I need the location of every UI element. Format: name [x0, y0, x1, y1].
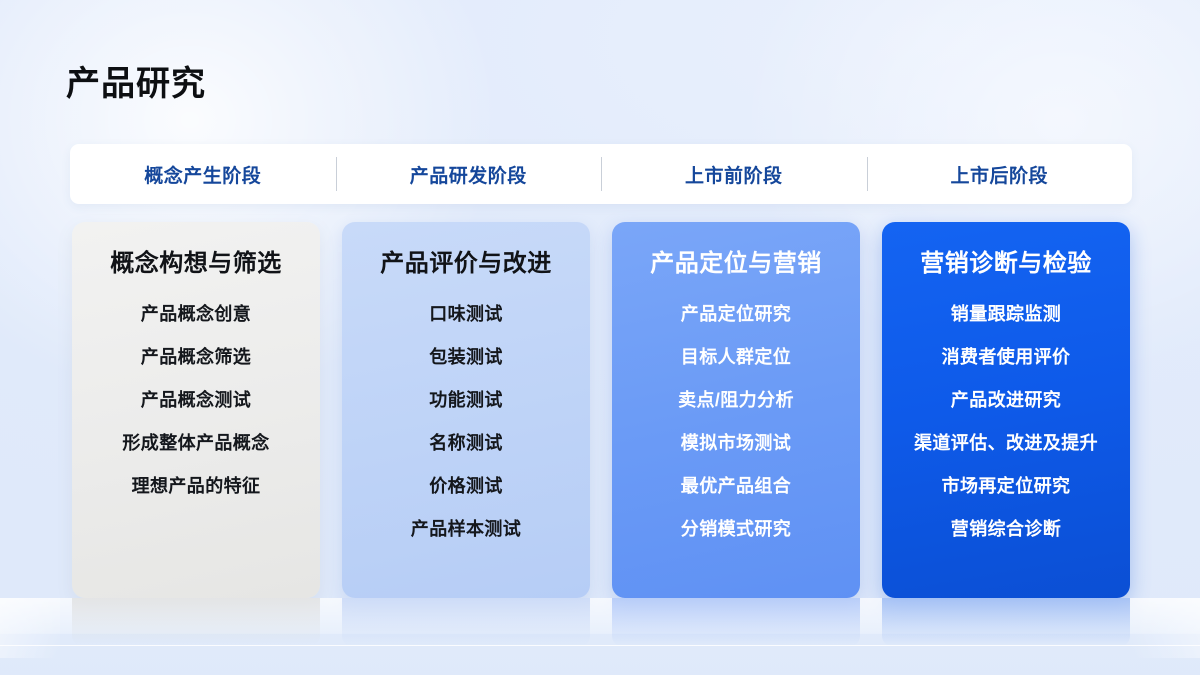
list-item: 分销模式研究 — [620, 520, 852, 538]
list-item: 模拟市场测试 — [620, 434, 852, 452]
card-title: 概念构想与筛选 — [72, 250, 320, 279]
card-title: 产品评价与改进 — [342, 250, 590, 279]
list-item: 最优产品组合 — [620, 477, 852, 495]
list-item: 卖点/阻力分析 — [620, 391, 852, 409]
floor-plane — [0, 598, 1200, 675]
list-item: 理想产品的特征 — [80, 477, 312, 495]
page-title: 产品研究 — [66, 63, 206, 106]
card-item-list: 产品概念创意 产品概念筛选 产品概念测试 形成整体产品概念 理想产品的特征 — [72, 297, 320, 495]
list-item: 产品样本测试 — [350, 520, 582, 538]
card-item-list: 口味测试 包装测试 功能测试 名称测试 价格测试 产品样本测试 — [342, 297, 590, 538]
list-item: 产品概念测试 — [80, 391, 312, 409]
tab-label: 产品研发阶段 — [410, 161, 527, 188]
list-item: 名称测试 — [350, 434, 582, 452]
list-item: 目标人群定位 — [620, 348, 852, 366]
tab-product-development[interactable]: 产品研发阶段 — [336, 144, 602, 204]
stage-tab-bar: 概念产生阶段 产品研发阶段 上市前阶段 上市后阶段 — [70, 144, 1132, 204]
tab-concept-generation[interactable]: 概念产生阶段 — [70, 144, 336, 204]
card-product-evaluation[interactable]: 产品评价与改进 口味测试 包装测试 功能测试 名称测试 价格测试 产品样本测试 — [342, 222, 590, 598]
card-item-list: 产品定位研究 目标人群定位 卖点/阻力分析 模拟市场测试 最优产品组合 分销模式… — [612, 297, 860, 538]
card-item-list: 销量跟踪监测 消费者使用评价 产品改进研究 渠道评估、改进及提升 市场再定位研究… — [882, 297, 1130, 538]
list-item: 价格测试 — [350, 477, 582, 495]
card-marketing-diagnosis[interactable]: 营销诊断与检验 销量跟踪监测 消费者使用评价 产品改进研究 渠道评估、改进及提升… — [882, 222, 1130, 598]
list-item: 营销综合诊断 — [890, 520, 1122, 538]
list-item: 产品定位研究 — [620, 305, 852, 323]
list-item: 渠道评估、改进及提升 — [890, 434, 1122, 452]
list-item: 产品概念筛选 — [80, 348, 312, 366]
floor-highlight-right — [1130, 598, 1200, 658]
card-product-positioning[interactable]: 产品定位与营销 产品定位研究 目标人群定位 卖点/阻力分析 模拟市场测试 最优产… — [612, 222, 860, 598]
list-item: 销量跟踪监测 — [890, 305, 1122, 323]
card-title: 营销诊断与检验 — [882, 250, 1130, 279]
stage-cards-row: 概念构想与筛选 产品概念创意 产品概念筛选 产品概念测试 形成整体产品概念 理想… — [72, 222, 1130, 598]
floor-horizon-line — [0, 645, 1200, 646]
tab-label: 上市后阶段 — [950, 161, 1048, 188]
list-item: 市场再定位研究 — [890, 477, 1122, 495]
floor-highlight-left — [0, 598, 60, 658]
tab-post-launch[interactable]: 上市后阶段 — [867, 144, 1133, 204]
list-item: 口味测试 — [350, 305, 582, 323]
list-item: 产品改进研究 — [890, 391, 1122, 409]
card-title: 产品定位与营销 — [612, 250, 860, 279]
tab-pre-launch[interactable]: 上市前阶段 — [601, 144, 867, 204]
card-concept-ideation[interactable]: 概念构想与筛选 产品概念创意 产品概念筛选 产品概念测试 形成整体产品概念 理想… — [72, 222, 320, 598]
list-item: 消费者使用评价 — [890, 348, 1122, 366]
list-item: 形成整体产品概念 — [80, 434, 312, 452]
tab-label: 概念产生阶段 — [144, 161, 261, 188]
list-item: 功能测试 — [350, 391, 582, 409]
slide-canvas: 产品研究 概念产生阶段 产品研发阶段 上市前阶段 上市后阶段 概念构想与筛选 产… — [0, 0, 1200, 675]
list-item: 包装测试 — [350, 348, 582, 366]
list-item: 产品概念创意 — [80, 305, 312, 323]
tab-label: 上市前阶段 — [685, 161, 783, 188]
